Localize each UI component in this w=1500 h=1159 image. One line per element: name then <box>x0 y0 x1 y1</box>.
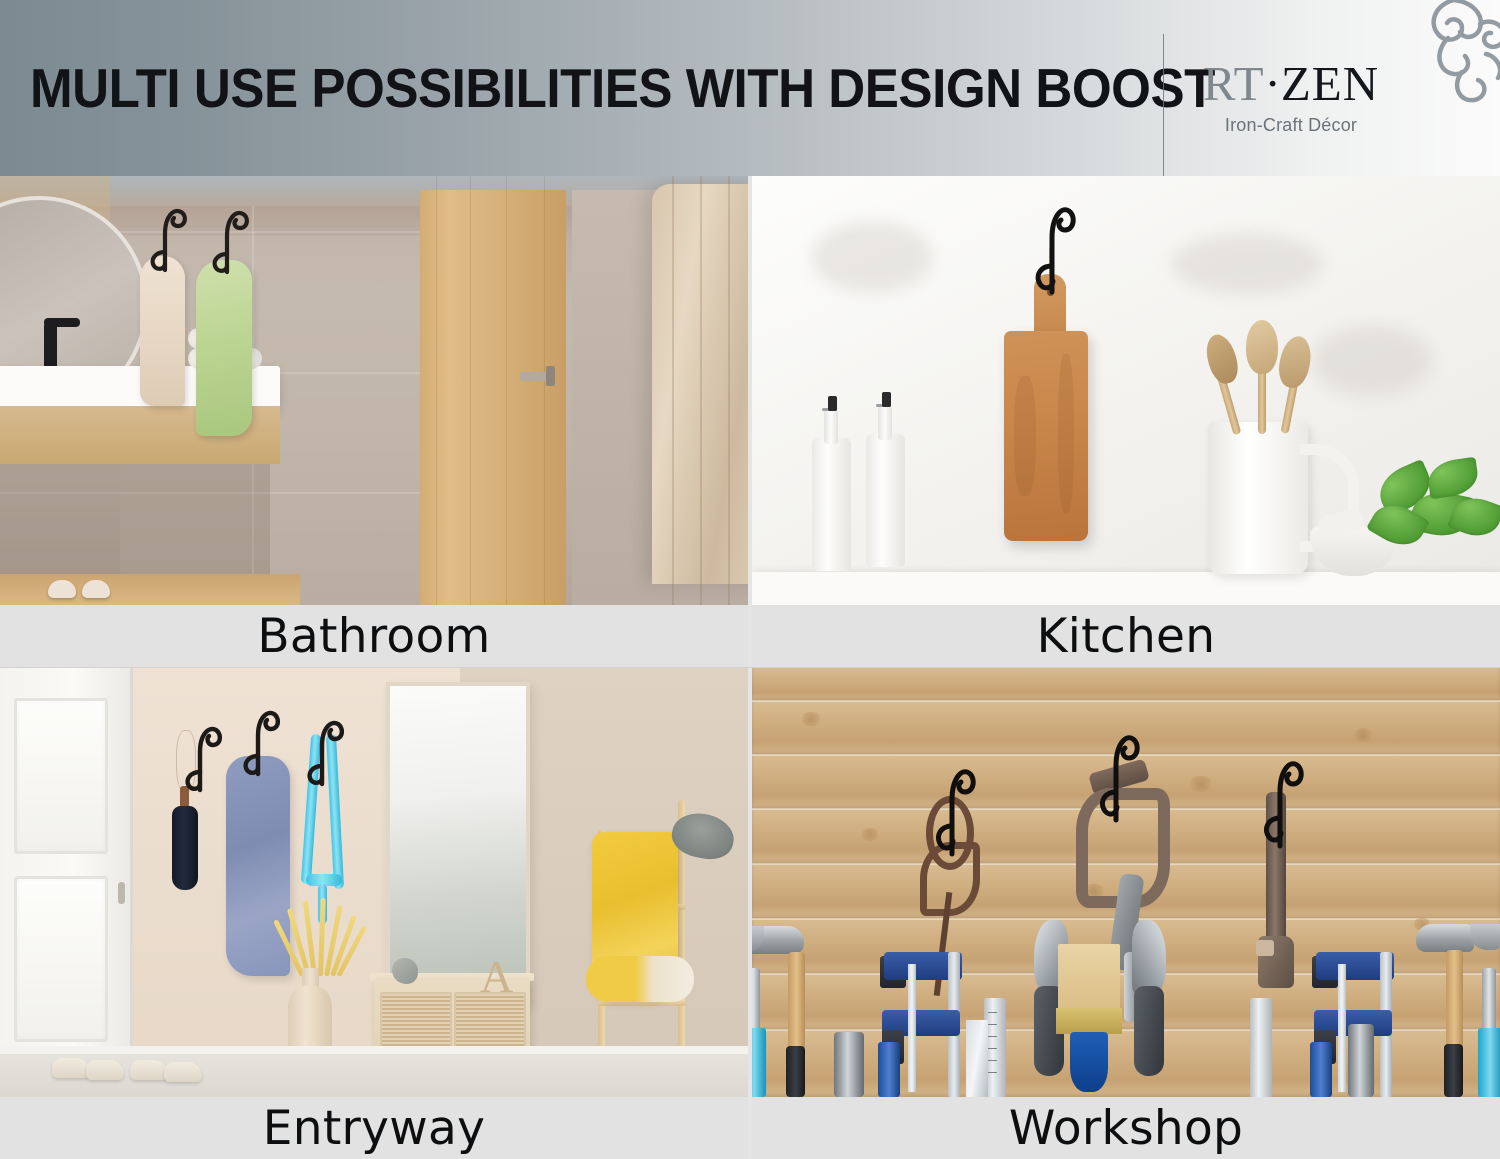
caption-entryway: Entryway <box>0 1097 748 1159</box>
entryway-photo: A <box>0 668 748 1097</box>
caption-kitchen: Kitchen <box>752 605 1500 667</box>
use-case-grid: Bathroom <box>0 176 1500 1159</box>
filigree-scroll-ornament-icon <box>1392 0 1500 114</box>
caption-label: Bathroom <box>257 609 490 664</box>
kitchen-photo <box>752 176 1500 605</box>
scroll-wall-hook-icon <box>142 200 188 276</box>
scroll-wall-hook-icon <box>178 718 222 796</box>
brand-tagline: Iron-Craft Décor <box>1186 115 1396 136</box>
hanging-umbrella <box>172 806 198 890</box>
utensil-pitcher <box>1208 422 1308 574</box>
brand-name: RT·ZEN <box>1186 60 1396 108</box>
scroll-wall-hook-icon <box>928 760 976 860</box>
brand-name-separator: · <box>1265 56 1281 111</box>
workshop-photo <box>752 668 1500 1097</box>
hanging-towel-cream <box>140 256 185 406</box>
infographic-page: MULTI USE POSSIBILITIES WITH DESIGN BOOS… <box>0 0 1500 1159</box>
page-title: MULTI USE POSSIBILITIES WITH DESIGN BOOS… <box>30 56 1062 120</box>
paintbrush <box>1058 944 1120 1014</box>
panel-kitchen: Kitchen <box>752 176 1500 667</box>
caption-label: Entryway <box>263 1101 486 1156</box>
scroll-wall-hook-icon <box>236 702 280 780</box>
brand-name-part-2: ZEN <box>1281 56 1379 111</box>
header-banner: MULTI USE POSSIBILITIES WITH DESIGN BOOS… <box>0 0 1500 176</box>
scroll-wall-hook-icon <box>1028 198 1076 298</box>
header-divider <box>1163 34 1164 176</box>
caption-bathroom: Bathroom <box>0 605 748 667</box>
seat-pillow <box>586 956 694 1002</box>
panel-bathroom: Bathroom <box>0 176 748 667</box>
scroll-wall-hook-icon <box>1256 752 1304 852</box>
bathroom-photo <box>0 176 748 605</box>
caption-label: Kitchen <box>1037 609 1216 664</box>
panel-entryway: A <box>0 668 748 1159</box>
caption-workshop: Workshop <box>752 1097 1500 1159</box>
hanging-scarf <box>226 756 290 976</box>
panel-workshop: Workshop <box>752 668 1500 1159</box>
scroll-wall-hook-icon <box>300 712 344 790</box>
hanging-towel-green <box>196 260 252 436</box>
scroll-wall-hook-icon <box>1092 726 1140 826</box>
caption-label: Workshop <box>1009 1101 1243 1156</box>
brand-name-part-1: RT <box>1203 56 1265 111</box>
brand-logo: RT·ZEN Iron-Craft Décor <box>1186 60 1396 136</box>
scroll-wall-hook-icon <box>204 202 250 278</box>
